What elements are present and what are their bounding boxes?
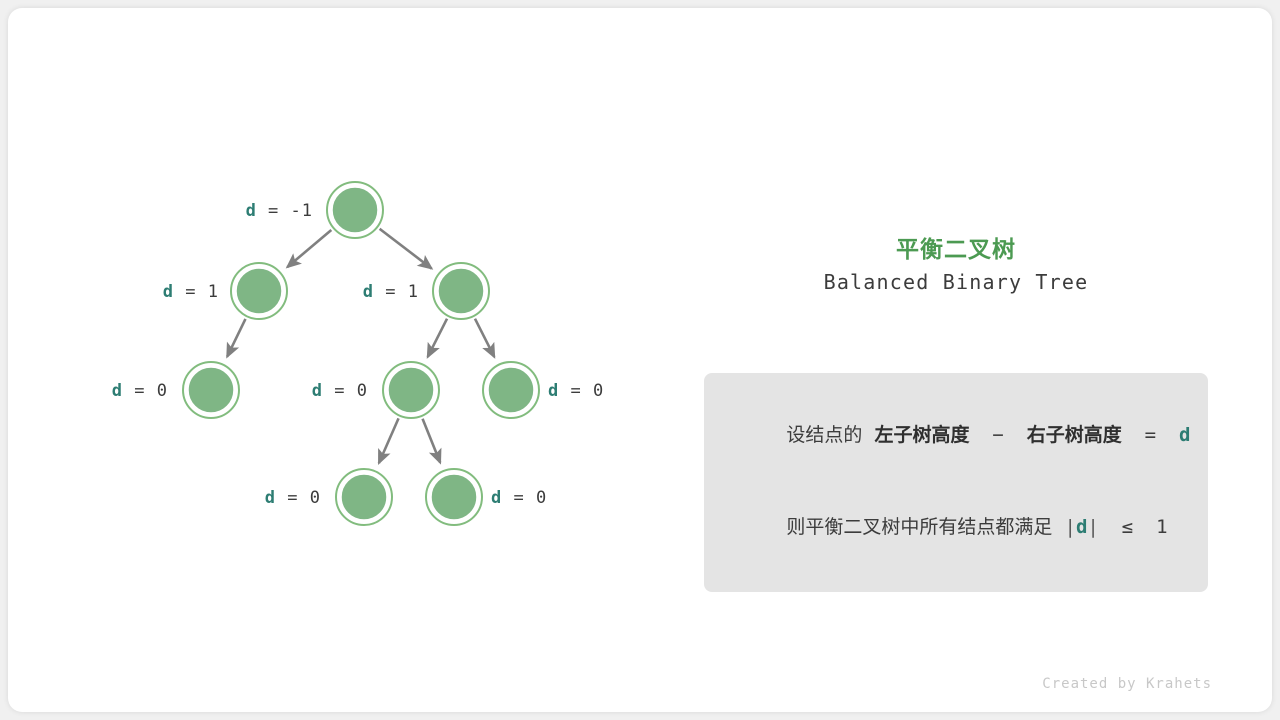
tree-node[interactable] bbox=[231, 263, 287, 319]
abs-bar-close: | bbox=[1087, 516, 1098, 538]
tree-node-fill bbox=[188, 367, 235, 414]
tree-node[interactable] bbox=[336, 469, 392, 525]
tree-node-label: d = 1 bbox=[163, 282, 219, 302]
tree-node-fill bbox=[388, 367, 435, 414]
definition-line-2: 则平衡二叉树中所有结点都满足 |d| ≤ 1 bbox=[726, 481, 1186, 573]
tree-node[interactable] bbox=[383, 362, 439, 418]
tree-node[interactable] bbox=[483, 362, 539, 418]
tree-node-label-variable: d bbox=[246, 201, 257, 221]
tree-node-label-value: = 0 bbox=[502, 488, 547, 508]
diagram-canvas: d = -1d = 1d = 1d = 0d = 0d = 0d = 0d = … bbox=[0, 0, 1280, 720]
tree-node-label-value: = 1 bbox=[374, 282, 419, 302]
tree-node-fill bbox=[341, 474, 388, 521]
tree-node-labels: d = -1d = 1d = 1d = 0d = 0d = 0d = 0d = … bbox=[112, 201, 604, 508]
definition-line-1: 设结点的 左子树高度 − 右子树高度 = d bbox=[726, 389, 1186, 481]
tree-node-label-variable: d bbox=[312, 381, 323, 401]
definition-line2-value: 1 bbox=[1156, 516, 1167, 538]
definition-line1-bold-right: 右子树高度 bbox=[1027, 424, 1122, 446]
tree-node-label: d = 0 bbox=[112, 381, 168, 401]
tree-node-label: d = 0 bbox=[548, 381, 604, 401]
tree-node-label: d = 1 bbox=[363, 282, 419, 302]
tree-edge bbox=[428, 319, 447, 357]
definition-line1-bold-left: 左子树高度 bbox=[875, 424, 970, 446]
definition-line2-d: d bbox=[1076, 516, 1087, 538]
tree-node-label: d = -1 bbox=[246, 201, 313, 221]
tree-node[interactable] bbox=[433, 263, 489, 319]
tree-node[interactable] bbox=[183, 362, 239, 418]
definition-line2-prefix: 则平衡二叉树中所有结点都满足 bbox=[786, 516, 1064, 538]
tree-node-label-variable: d bbox=[363, 282, 374, 302]
tree-edge bbox=[379, 418, 399, 463]
credit-text: Created by Krahets bbox=[8, 676, 1272, 692]
tree-nodes bbox=[183, 182, 539, 525]
tree-node[interactable] bbox=[327, 182, 383, 238]
tree-node-label-value: = 0 bbox=[559, 381, 604, 401]
white-card: d = -1d = 1d = 1d = 0d = 0d = 0d = 0d = … bbox=[8, 8, 1272, 712]
tree-node-label: d = 0 bbox=[265, 488, 321, 508]
page-title: 平衡二叉树 bbox=[696, 230, 1216, 264]
abs-bar-open: | bbox=[1065, 516, 1076, 538]
tree-edge bbox=[475, 319, 494, 357]
definition-box: 设结点的 左子树高度 − 右子树高度 = d 则平衡二叉树中所有结点都满足 |d… bbox=[704, 373, 1208, 592]
tree-node-label-value: = -1 bbox=[257, 201, 313, 221]
binary-tree-diagram: d = -1d = 1d = 1d = 0d = 0d = 0d = 0d = … bbox=[8, 8, 688, 712]
tree-node-fill bbox=[488, 367, 535, 414]
definition-line1-equals: = bbox=[1122, 424, 1179, 446]
definition-line1-d: d bbox=[1179, 424, 1190, 446]
tree-node-fill bbox=[431, 474, 478, 521]
tree-node-fill bbox=[332, 187, 379, 234]
tree-node-label-variable: d bbox=[491, 488, 502, 508]
tree-edge bbox=[423, 419, 441, 463]
tree-node-fill bbox=[236, 268, 283, 315]
definition-line2-relation: ≤ bbox=[1099, 516, 1156, 538]
tree-node-fill bbox=[438, 268, 485, 315]
info-panel: 平衡二叉树 Balanced Binary Tree 设结点的 左子树高度 − … bbox=[696, 8, 1272, 712]
tree-node-label-value: = 0 bbox=[323, 381, 368, 401]
tree-node-label-value: = 1 bbox=[174, 282, 219, 302]
tree-node-label-value: = 0 bbox=[276, 488, 321, 508]
tree-node-label-variable: d bbox=[548, 381, 559, 401]
tree-node-label: d = 0 bbox=[312, 381, 368, 401]
tree-node-label-variable: d bbox=[265, 488, 276, 508]
tree-edge bbox=[227, 319, 245, 357]
definition-line1-prefix: 设结点的 bbox=[786, 424, 874, 446]
tree-node-label: d = 0 bbox=[491, 488, 547, 508]
tree-node[interactable] bbox=[426, 469, 482, 525]
tree-node-label-variable: d bbox=[163, 282, 174, 302]
tree-node-label-value: = 0 bbox=[123, 381, 168, 401]
tree-edge bbox=[287, 230, 331, 267]
page-subtitle: Balanced Binary Tree bbox=[696, 270, 1216, 294]
tree-node-label-variable: d bbox=[112, 381, 123, 401]
definition-line1-minus: − bbox=[970, 424, 1027, 446]
tree-edge bbox=[380, 229, 432, 269]
